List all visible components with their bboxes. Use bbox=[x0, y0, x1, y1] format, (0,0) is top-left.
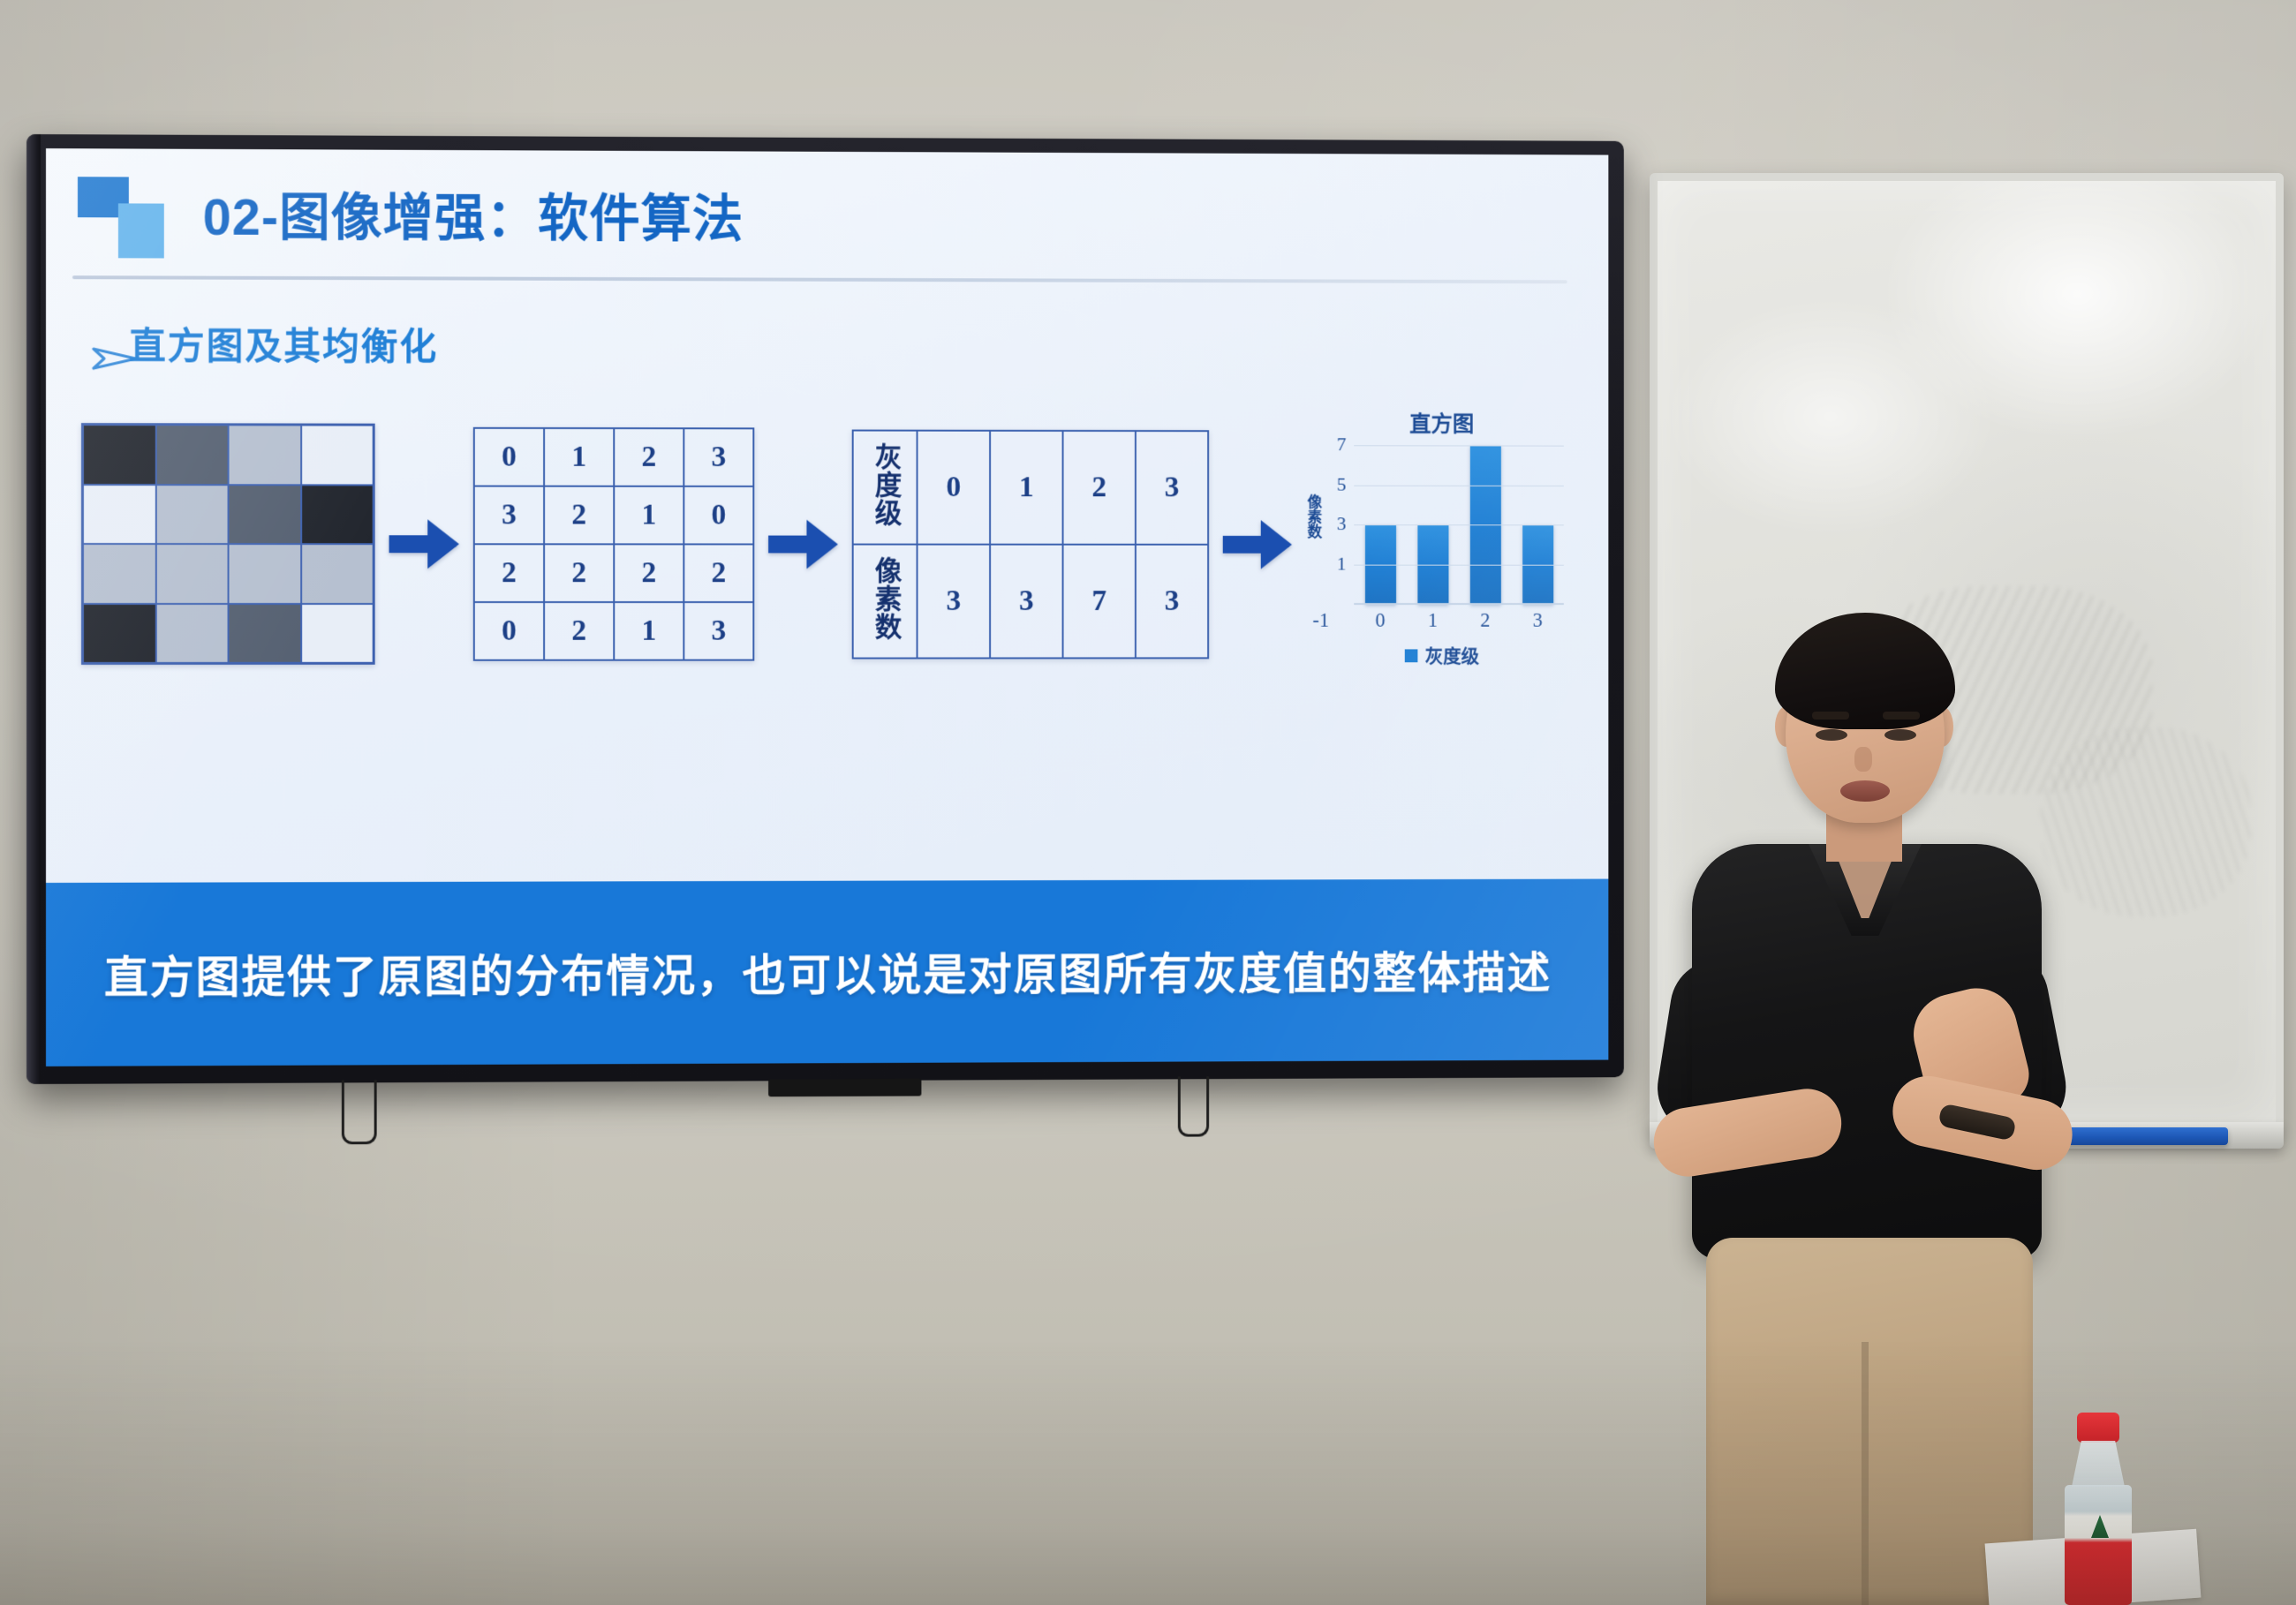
presenter-eyebrow bbox=[1812, 712, 1849, 720]
pixel-cell bbox=[155, 544, 228, 603]
table-cell: 1 bbox=[990, 431, 1062, 545]
chart-x-tick-labels: 0123 bbox=[1354, 609, 1564, 632]
pixel-cell bbox=[301, 485, 374, 544]
gray-level-count-table: 灰度级0123像素数3373 bbox=[852, 430, 1209, 659]
title-divider bbox=[72, 275, 1567, 283]
matrix-cell: 2 bbox=[544, 602, 614, 660]
chart-y-tick-label: 7 bbox=[1337, 433, 1347, 456]
gray-level-image-grid bbox=[81, 423, 375, 665]
legend-label: 灰度级 bbox=[1425, 642, 1479, 668]
matrix-cell: 2 bbox=[474, 544, 544, 602]
chart-y-axis-label: 像素数 bbox=[1303, 494, 1324, 539]
chart-x-tick-label: 1 bbox=[1428, 609, 1438, 632]
tv-screen[interactable]: 02-图像增强：软件算法 直方图及其均衡化 bbox=[46, 148, 1608, 1066]
pixel-cell bbox=[301, 426, 374, 485]
matrix-cell: 0 bbox=[684, 486, 753, 545]
pixel-cell bbox=[155, 485, 228, 544]
legend-swatch-icon bbox=[1404, 649, 1417, 662]
table-cell: 3 bbox=[918, 545, 991, 659]
tv-display: 02-图像增强：软件算法 直方图及其均衡化 bbox=[26, 134, 1624, 1084]
subtitle-row: 直方图及其均衡化 bbox=[92, 316, 438, 371]
pixel-cell bbox=[229, 544, 301, 603]
tv-bezel-edge bbox=[26, 134, 41, 1084]
chart-y-tick-label: 1 bbox=[1337, 553, 1347, 576]
title-decoration-square-light bbox=[118, 203, 164, 258]
table-row: 0213 bbox=[474, 602, 754, 660]
matrix-cell: 1 bbox=[544, 428, 614, 486]
floor-shadow bbox=[0, 1340, 2296, 1605]
arrow-right-icon bbox=[1209, 516, 1305, 572]
matrix-cell: 0 bbox=[474, 602, 544, 660]
whiteboard-marker bbox=[2055, 1127, 2228, 1145]
chart-x-axis bbox=[1354, 603, 1564, 605]
pixel-cell bbox=[83, 425, 155, 485]
classroom-scene: 02-图像增强：软件算法 直方图及其均衡化 bbox=[0, 0, 2296, 1605]
pixel-value-matrix-table: 0123321022220213 bbox=[473, 427, 754, 661]
presenter-hair bbox=[1775, 613, 1955, 729]
table-row-header: 像素数 bbox=[853, 545, 918, 659]
histogram-chart: 直方图 像素数 7531 -1 0123 灰度级 bbox=[1306, 414, 1578, 675]
presentation-slide: 02-图像增强：软件算法 直方图及其均衡化 bbox=[46, 148, 1608, 1066]
table-cell: 7 bbox=[1063, 545, 1136, 659]
presenter-eyebrow bbox=[1883, 712, 1920, 720]
presenter-eye bbox=[1816, 729, 1847, 741]
slide-bottom-banner: 直方图提供了原图的分布情况，也可以说是对原图所有灰度值的整体描述 bbox=[46, 879, 1608, 1066]
pixel-cell bbox=[83, 604, 155, 663]
banner-text: 直方图提供了原图的分布情况，也可以说是对原图所有灰度值的整体描述 bbox=[104, 938, 1552, 1006]
presenter-nose bbox=[1854, 747, 1872, 772]
matrix-cell: 0 bbox=[474, 428, 544, 486]
table-row: 3210 bbox=[474, 486, 754, 545]
matrix-cell: 3 bbox=[684, 602, 753, 660]
tv-cable bbox=[342, 1080, 377, 1144]
table-row-header: 灰度级 bbox=[853, 431, 918, 545]
pixel-cell bbox=[155, 604, 228, 663]
chart-x-tick-label: 2 bbox=[1480, 609, 1490, 632]
table-row: 2222 bbox=[474, 544, 754, 602]
presenter-mouth bbox=[1840, 780, 1890, 802]
chart-title: 直方图 bbox=[1306, 407, 1578, 439]
pixel-cell bbox=[229, 485, 301, 544]
slide-subtitle: 直方图及其均衡化 bbox=[129, 316, 438, 371]
chart-x-tick-label: 0 bbox=[1375, 609, 1385, 632]
tv-cable bbox=[1178, 1076, 1209, 1136]
pixel-cell bbox=[83, 544, 155, 603]
matrix-cell: 2 bbox=[544, 486, 614, 545]
matrix-cell: 3 bbox=[684, 428, 753, 486]
pixel-cell bbox=[301, 544, 374, 603]
table-row: 0123 bbox=[474, 428, 754, 486]
pixel-cell bbox=[301, 604, 374, 663]
tv-port bbox=[768, 1079, 921, 1097]
chart-y-tick-label: 5 bbox=[1337, 473, 1347, 496]
pixel-cell bbox=[229, 425, 301, 484]
chart-gridline bbox=[1354, 524, 1564, 525]
matrix-cell: 2 bbox=[684, 544, 753, 602]
table-row: 灰度级0123 bbox=[853, 431, 1208, 545]
matrix-cell: 2 bbox=[614, 428, 684, 486]
matrix-cell: 1 bbox=[614, 602, 684, 660]
table-cell: 3 bbox=[1136, 431, 1208, 545]
chart-x-tick-label: 3 bbox=[1533, 609, 1543, 632]
table-cell: 3 bbox=[1136, 545, 1208, 659]
histogram-flow-diagram: 0123321022220213 灰度级0123像素数3373 bbox=[81, 411, 1582, 676]
matrix-cell: 2 bbox=[544, 544, 614, 602]
chart-y-tick-negative: -1 bbox=[1312, 609, 1329, 632]
table-cell: 2 bbox=[1063, 431, 1136, 545]
chart-plot-area: 7531 bbox=[1354, 445, 1564, 604]
pixel-cell bbox=[155, 425, 228, 485]
presenter-eye bbox=[1884, 729, 1916, 741]
table-cell: 3 bbox=[990, 545, 1062, 659]
arrow-right-icon bbox=[375, 516, 473, 572]
matrix-cell: 1 bbox=[614, 486, 684, 545]
arrow-right-icon bbox=[754, 516, 851, 573]
table-row: 像素数3373 bbox=[853, 545, 1208, 659]
matrix-cell: 2 bbox=[614, 544, 684, 602]
pixel-cell bbox=[83, 485, 155, 545]
page-title: 02-图像增强：软件算法 bbox=[203, 176, 744, 252]
pixel-cell bbox=[229, 604, 301, 663]
chart-gridline bbox=[1354, 564, 1564, 565]
chart-legend: 灰度级 bbox=[1306, 642, 1578, 668]
matrix-cell: 3 bbox=[474, 486, 544, 545]
table-cell: 0 bbox=[918, 431, 991, 545]
chart-y-tick-label: 3 bbox=[1337, 513, 1347, 536]
